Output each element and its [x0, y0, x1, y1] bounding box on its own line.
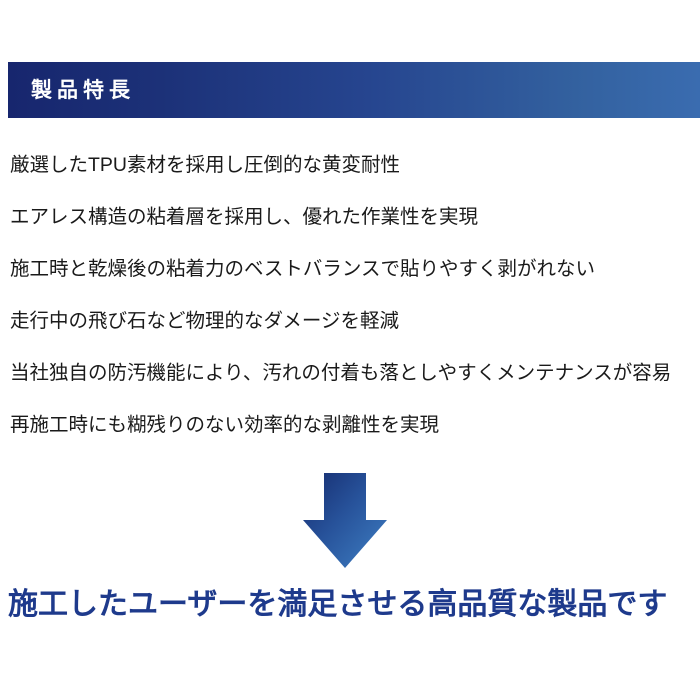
feature-item: 走行中の飛び石など物理的なダメージを軽減: [10, 296, 695, 348]
feature-item-text: 施工時と乾燥後の粘着力のベストバランスで貼りやすく剥がれない: [10, 260, 595, 280]
feature-list: 厳選したTPU素材を採用し圧倒的な黄変耐性 エアレス構造の粘着層を採用し、優れた…: [10, 140, 695, 452]
section-header-bar: 製品特長: [8, 62, 700, 118]
conclusion-text: 施工したユーザーを満足させる高品質な製品です: [8, 590, 667, 620]
feature-item-text: 厳選したTPU素材を採用し圧倒的な黄変耐性: [10, 156, 400, 176]
feature-item: 当社独自の防汚機能により、汚れの付着も落としやすくメンテナンスが容易: [10, 348, 695, 400]
feature-item: 再施工時にも糊残りのない効率的な剥離性を実現: [10, 400, 695, 452]
feature-item-text: 走行中の飛び石など物理的なダメージを軽減: [10, 312, 399, 332]
section-header-title: 製品特長: [31, 80, 135, 101]
arrow-down-icon: [302, 472, 388, 570]
feature-item: 厳選したTPU素材を採用し圧倒的な黄変耐性: [10, 140, 695, 192]
feature-item-text: エアレス構造の粘着層を採用し、優れた作業性を実現: [10, 208, 478, 228]
feature-item: エアレス構造の粘着層を採用し、優れた作業性を実現: [10, 192, 695, 244]
feature-item-text: 再施工時にも糊残りのない効率的な剥離性を実現: [10, 416, 439, 436]
conclusion-banner: 施工したユーザーを満足させる高品質な製品です: [8, 580, 698, 630]
product-features-panel: 製品特長 厳選したTPU素材を採用し圧倒的な黄変耐性 エアレス構造の粘着層を採用…: [0, 0, 700, 700]
feature-item-text: 当社独自の防汚機能により、汚れの付着も落としやすくメンテナンスが容易: [10, 364, 671, 384]
feature-item: 施工時と乾燥後の粘着力のベストバランスで貼りやすく剥がれない: [10, 244, 695, 296]
